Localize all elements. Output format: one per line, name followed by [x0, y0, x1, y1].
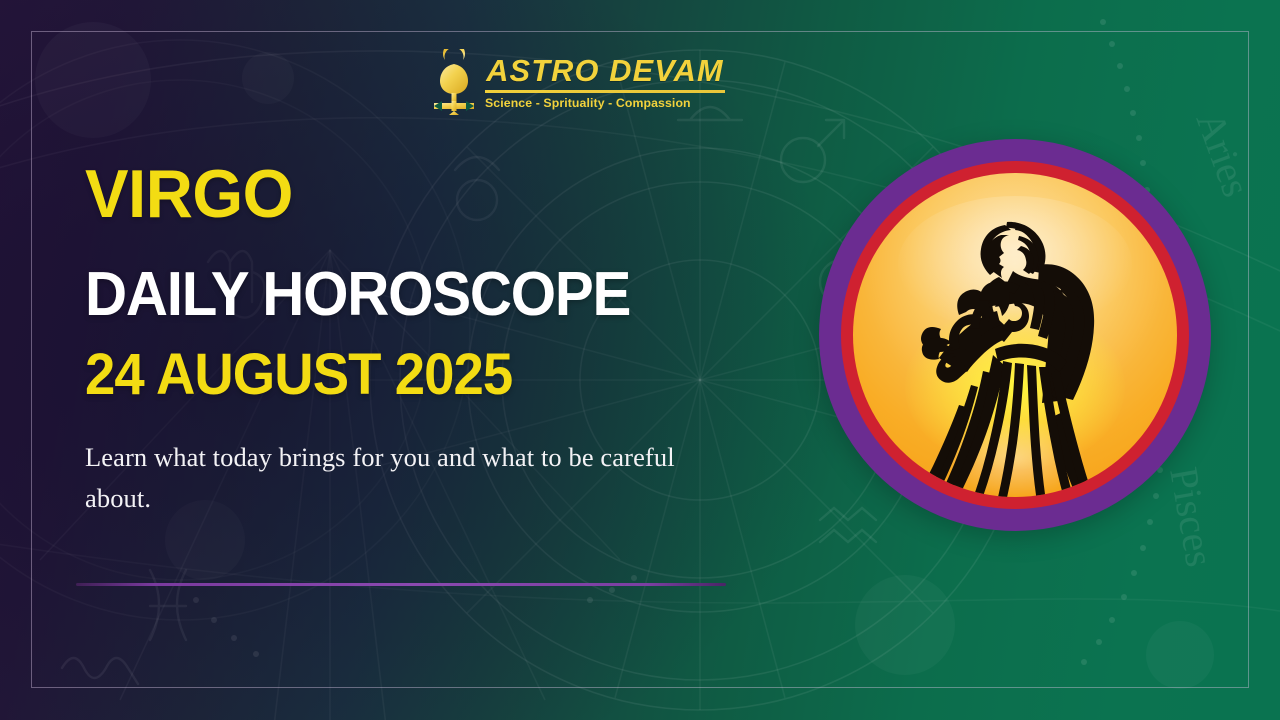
virgo-zodiac-badge: [819, 139, 1211, 531]
badge-face: [853, 173, 1177, 497]
horoscope-banner: Aries Pisces: [0, 0, 1280, 720]
hero-subtitle: Learn what today brings for you and what…: [85, 437, 725, 518]
wheel-label-aries: Aries: [1188, 106, 1260, 203]
astro-devam-kalash-moon-logo-icon: [432, 49, 476, 115]
brand-rule: [485, 90, 725, 93]
brand-tagline: Science - Sprituality - Compassion: [485, 97, 725, 109]
page-title: DAILY HOROSCOPE: [85, 264, 781, 326]
zodiac-sign-title: VIRGO: [85, 160, 795, 228]
virgo-maiden-zodiac-icon: [853, 173, 1177, 497]
horoscope-date: 24 AUGUST 2025: [85, 346, 781, 404]
brand-name: ASTRO DEVAM: [486, 55, 724, 86]
brand-logo[interactable]: ASTRO DEVAM Science - Sprituality - Comp…: [432, 48, 725, 116]
accent-divider: [76, 583, 726, 586]
hero-copy: VIRGO DAILY HOROSCOPE 24 AUGUST 2025 Lea…: [85, 160, 825, 518]
